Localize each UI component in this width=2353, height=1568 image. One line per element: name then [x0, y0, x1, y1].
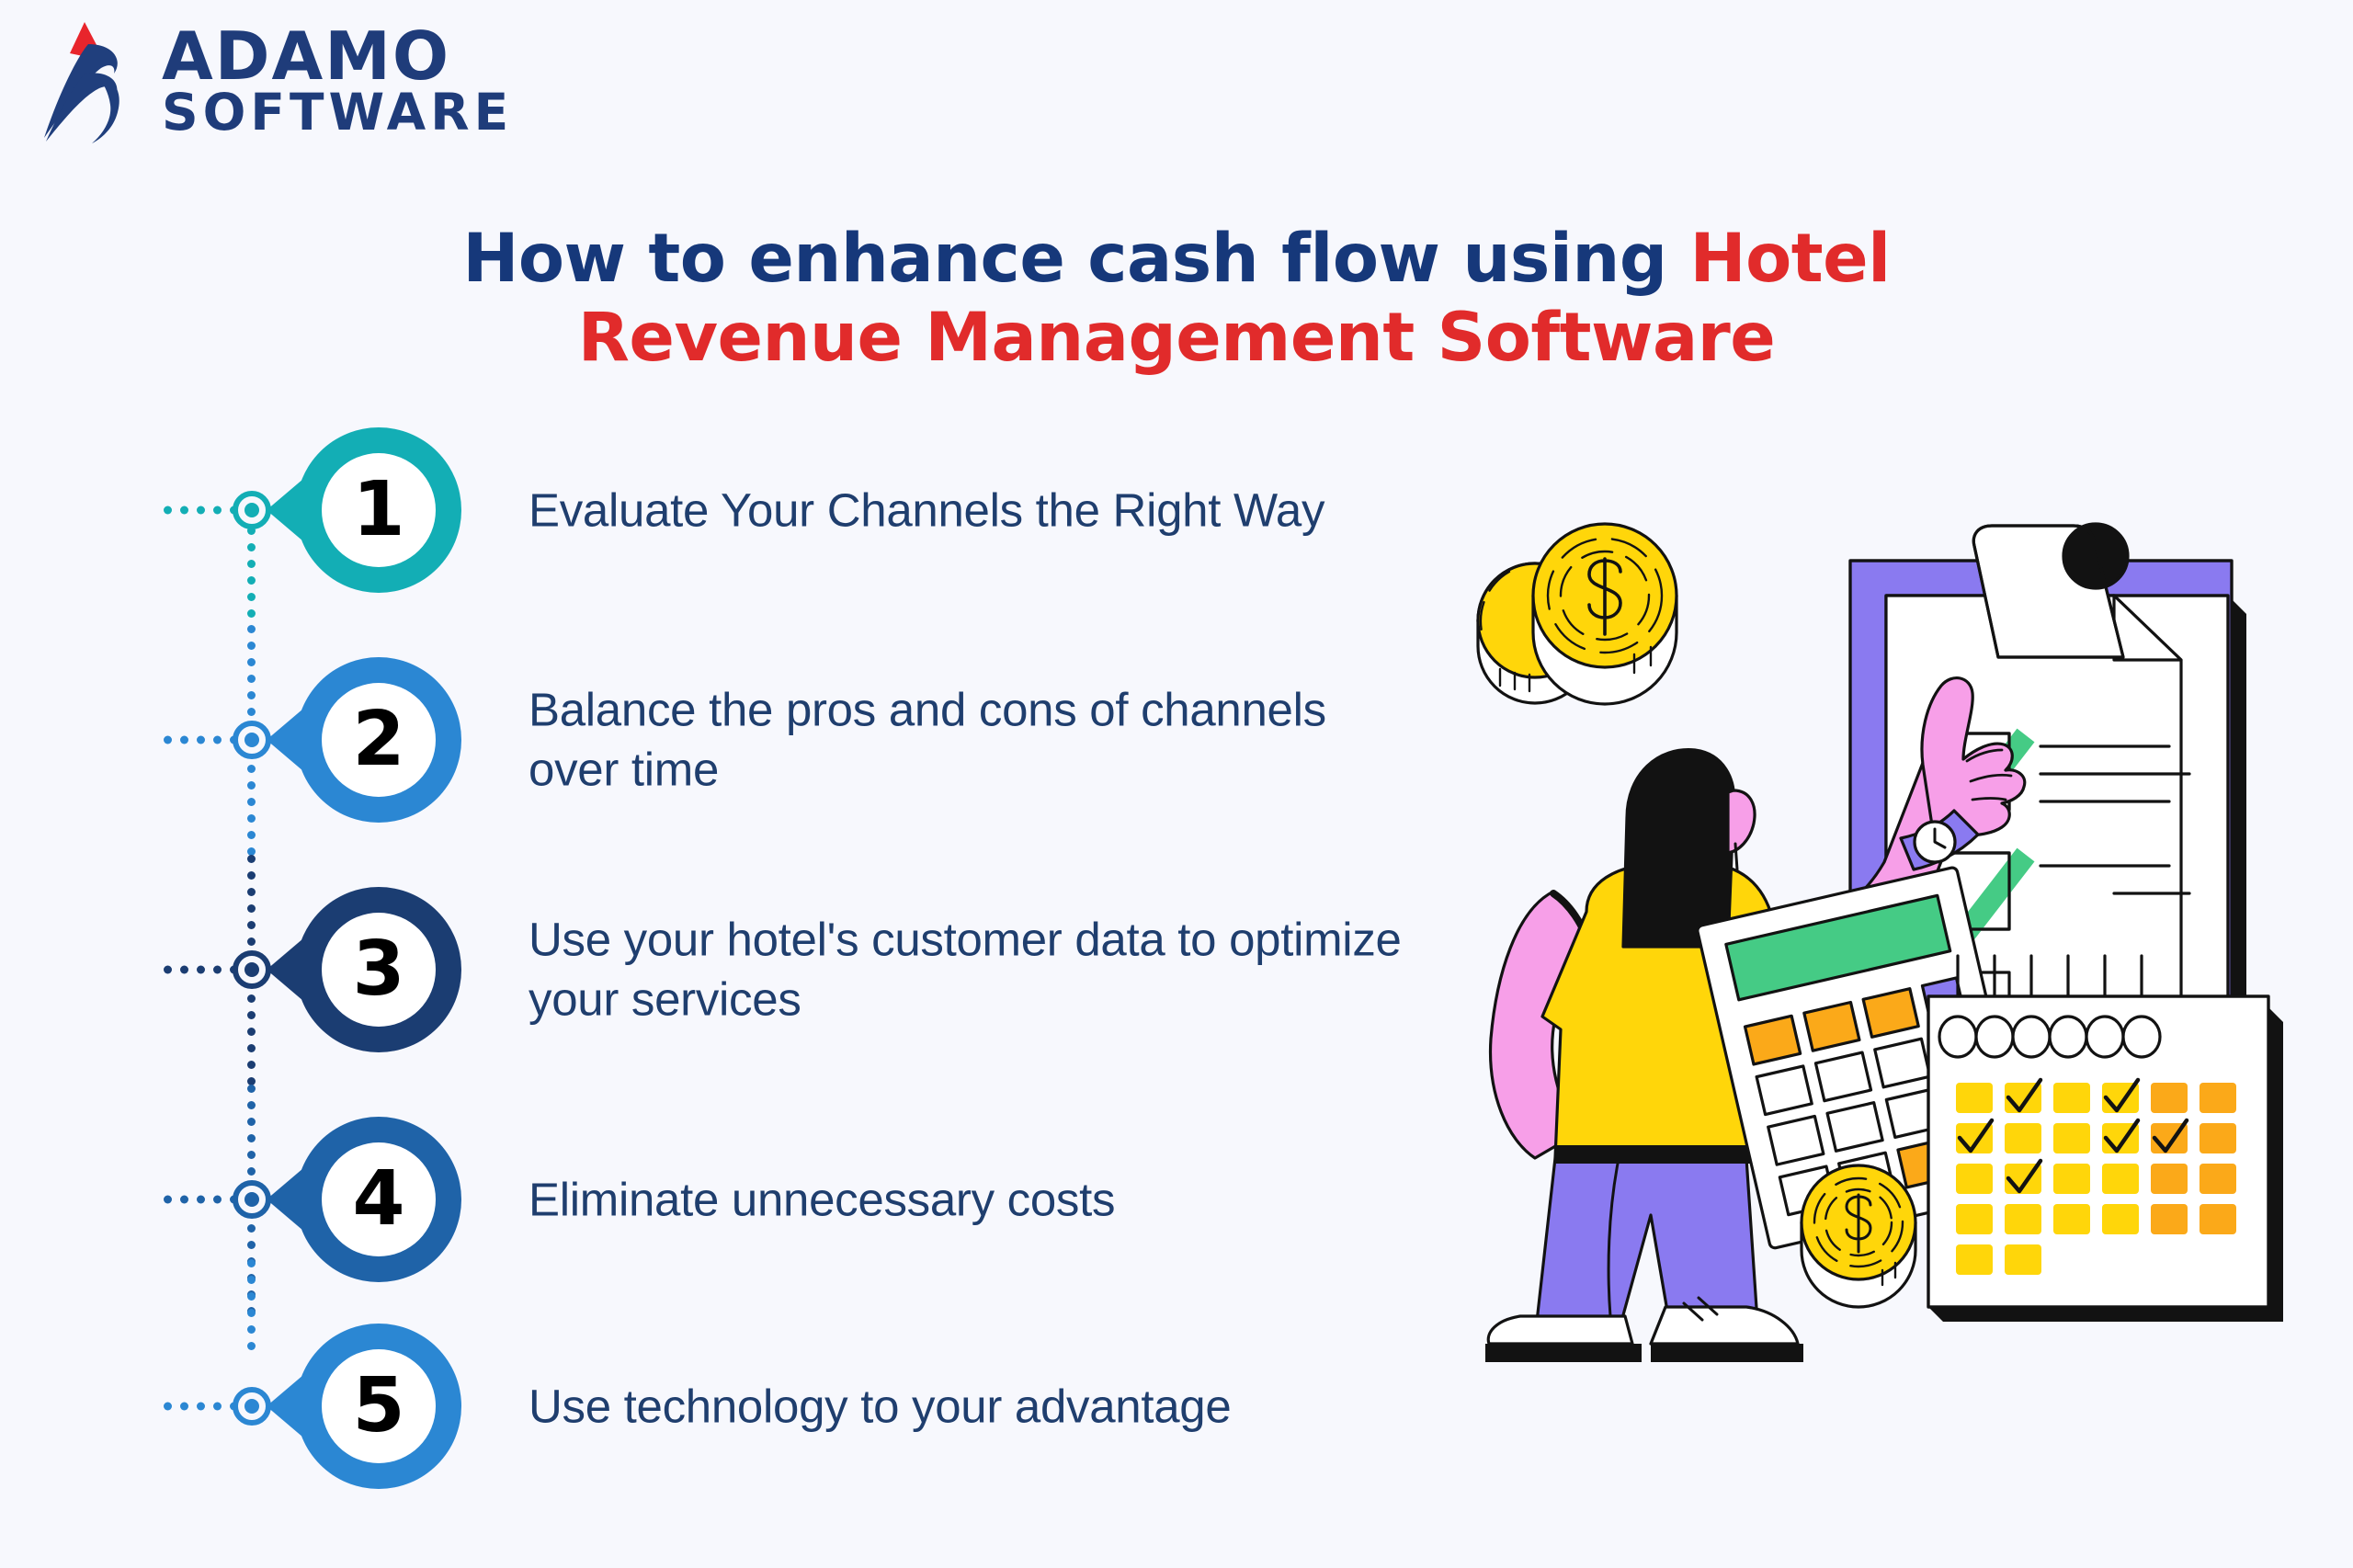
dollar-coin-icon	[1802, 1165, 1915, 1307]
step-label: Use your hotel's customer data to optimi…	[529, 910, 1402, 1030]
step-number-badge[interactable]: 4	[296, 1117, 461, 1282]
lead-dots-connector	[164, 966, 235, 974]
list-item[interactable]: 4 Eliminate unnecessary costs	[0, 1085, 1434, 1314]
badge-pointer-icon	[267, 1168, 303, 1231]
badge-inner: 2	[322, 683, 436, 797]
badge-inner: 5	[322, 1349, 436, 1463]
step-number-badge[interactable]: 5	[296, 1324, 461, 1489]
badge-pointer-icon	[267, 709, 303, 771]
lead-dots-connector	[164, 506, 235, 515]
list-item[interactable]: 1 Evaluate Your Channels the Right Way	[0, 395, 1434, 625]
list-item[interactable]: 5 Use technology to your advantage	[0, 1314, 1434, 1498]
badge-inner: 3	[322, 913, 436, 1027]
step-number: 3	[352, 932, 404, 1007]
lead-dots-connector	[164, 736, 235, 744]
timeline-ring-marker	[233, 1387, 271, 1426]
title-part-red-line2: Revenue Management Software	[578, 299, 1776, 377]
vertical-dots-connector	[247, 1259, 256, 1406]
timeline-ring-marker	[233, 721, 271, 759]
timeline-ring-marker	[233, 491, 271, 529]
badge-pointer-icon	[267, 1375, 303, 1437]
step-number-badge[interactable]: 2	[296, 657, 461, 823]
brand-logo: ADAMO SOFTWARE	[33, 17, 513, 145]
lead-dots-connector	[164, 1403, 235, 1411]
step-label: Eliminate unnecessary costs	[529, 1169, 1402, 1229]
lead-dots-connector	[164, 1196, 235, 1204]
timeline-ring-marker	[233, 950, 271, 989]
step-number: 2	[352, 702, 404, 778]
woman-checklist-finance-illustration	[1471, 515, 2353, 1397]
badge-inner: 4	[322, 1142, 436, 1256]
badge-pointer-icon	[267, 938, 303, 1001]
list-item[interactable]: 3 Use your hotel's customer data to opti…	[0, 855, 1434, 1085]
logo-name-secondary: SOFTWARE	[162, 88, 513, 138]
adamo-swoosh-logo-icon	[33, 17, 142, 145]
steps-list: 1 Evaluate Your Channels the Right Way 2	[0, 395, 1434, 1498]
title-part-navy: How to enhance cash flow using	[462, 220, 1689, 298]
title-part-red-inline: Hotel	[1690, 220, 1891, 298]
badge-inner: 1	[322, 453, 436, 567]
step-number: 5	[352, 1369, 404, 1444]
step-number: 1	[352, 472, 404, 548]
page-title: How to enhance cash flow using Hotel Rev…	[395, 220, 1958, 378]
timeline-ring-marker	[233, 1180, 271, 1219]
logo-name-primary: ADAMO	[162, 24, 513, 89]
badge-pointer-icon	[267, 479, 303, 541]
step-label: Balance the pros and cons of channels ov…	[529, 680, 1402, 801]
step-number: 4	[352, 1162, 404, 1237]
step-label: Evaluate Your Channels the Right Way	[529, 480, 1402, 540]
step-label: Use technology to your advantage	[529, 1376, 1402, 1436]
step-number-badge[interactable]: 1	[296, 427, 461, 593]
wall-calendar-icon	[1928, 956, 2283, 1322]
list-item[interactable]: 2 Balance the pros and cons of channels …	[0, 625, 1434, 855]
gold-coins-stack-icon	[1478, 524, 1677, 704]
step-number-badge[interactable]: 3	[296, 887, 461, 1052]
